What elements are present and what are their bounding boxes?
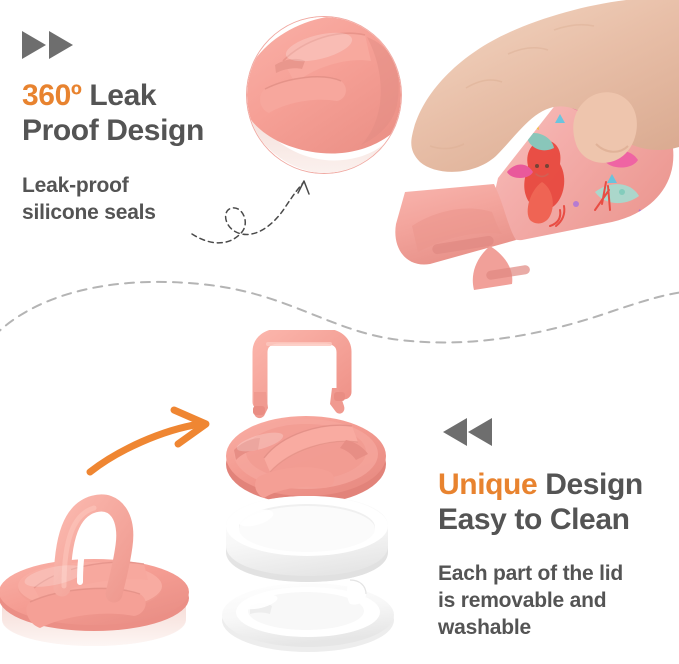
top-left-headline-rest: Leak bbox=[81, 79, 156, 112]
bottom-right-subtext-line2: is removable and bbox=[438, 587, 606, 614]
bottom-right-headline-accent: Unique bbox=[438, 468, 537, 501]
dashed-loop-arrow-icon bbox=[190, 166, 320, 256]
bottom-right-headline-rest: Design bbox=[537, 468, 643, 501]
lid-closeup-circle-inset bbox=[246, 16, 402, 174]
top-left-subtext-line1: Leak-proof bbox=[22, 172, 129, 199]
bottom-right-headline: Unique Design bbox=[438, 467, 643, 502]
bottom-right-headline-line2: Easy to Clean bbox=[438, 502, 630, 537]
infographic-root: 360º Leak Proof Design Leak-proof silico… bbox=[0, 0, 679, 664]
fast-forward-icon bbox=[20, 28, 78, 62]
bottom-right-subtext-line1: Each part of the lid bbox=[438, 560, 623, 587]
top-left-headline: 360º Leak bbox=[22, 78, 156, 113]
top-left-subtext-line2: silicone seals bbox=[22, 199, 156, 226]
assembled-lid-photo bbox=[0, 492, 212, 664]
rewind-icon bbox=[437, 415, 495, 449]
bottom-right-subtext-line3: washable bbox=[438, 614, 531, 641]
top-left-headline-accent: 360º bbox=[22, 79, 81, 112]
hand-pressing-bottle-photo bbox=[390, 0, 679, 296]
top-left-headline-line2: Proof Design bbox=[22, 113, 204, 148]
exploded-lid-parts-photo bbox=[198, 330, 422, 654]
